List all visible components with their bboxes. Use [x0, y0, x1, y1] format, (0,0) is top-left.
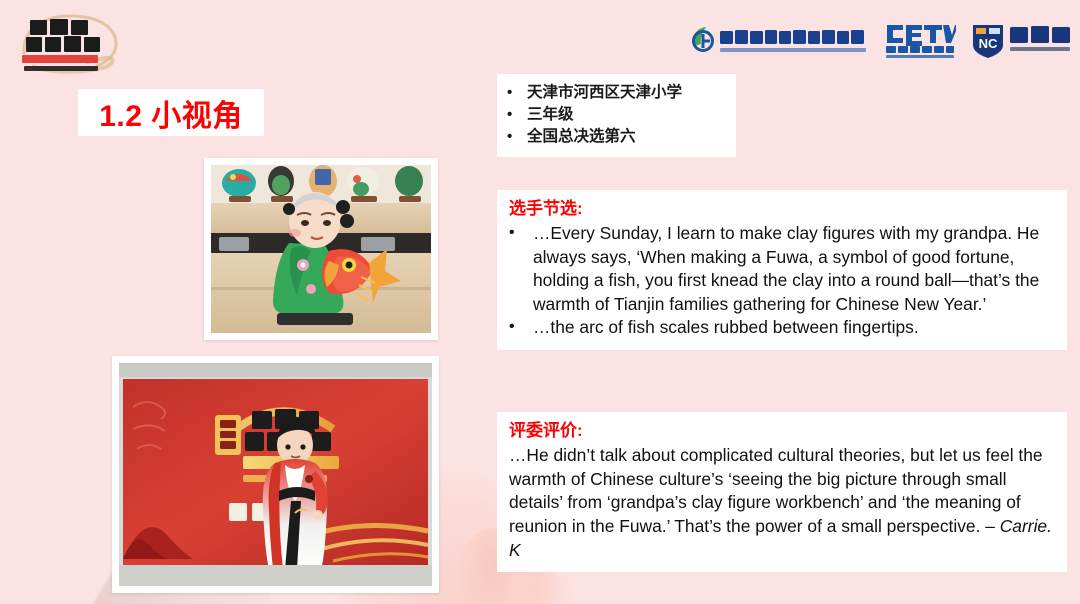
contestant-on-stage-image — [119, 363, 432, 586]
page-title: 1.2 小视角 — [78, 89, 264, 136]
bullet-icon: • — [507, 104, 527, 125]
list-item: • …Every Sunday, I learn to make clay fi… — [509, 222, 1055, 316]
student-school: 天津市河西区天津小学 — [527, 82, 682, 104]
clay-fuwa-figure-photo — [204, 158, 438, 340]
comment-body: …He didn’t talk about complicated cultur… — [509, 444, 1055, 562]
excerpt-heading: 选手节选: — [509, 198, 1055, 220]
list-item: • 三年级 — [507, 104, 726, 126]
contestant-excerpt-box: 选手节选: • …Every Sunday, I learn to make c… — [497, 190, 1067, 350]
page-title-text: 1.2 小视角 — [99, 91, 243, 135]
contestant-on-stage-photo — [112, 356, 439, 593]
student-info-list: • 天津市河西区天津小学 • 三年级 • 全国总决选第六 — [507, 82, 726, 148]
comment-heading: 评委评价: — [509, 420, 1055, 442]
excerpt-paragraph-2: …the arc of fish scales rubbed between f… — [533, 316, 1055, 339]
stories-of-china-logo — [16, 10, 124, 76]
slide-canvas: NC 1.2 小视角 • 天津市河西区天津小学 • 三年级 — [0, 0, 1080, 604]
china-institute-logo — [688, 22, 870, 58]
clay-fuwa-figure-image — [211, 165, 431, 333]
excerpt-paragraph-1: …Every Sunday, I learn to make clay figu… — [533, 222, 1055, 316]
student-grade: 三年级 — [527, 104, 574, 126]
student-ranking: 全国总决选第六 — [527, 126, 636, 148]
bullet-icon: • — [509, 222, 533, 244]
list-item: • 全国总决选第六 — [507, 126, 726, 148]
list-item: • …the arc of fish scales rubbed between… — [509, 316, 1055, 339]
bullet-icon: • — [509, 316, 533, 338]
judge-comment-box: 评委评价: …He didn’t talk about complicated … — [497, 412, 1067, 572]
cetv-logo — [884, 21, 956, 59]
bullet-icon: • — [507, 82, 527, 103]
new-channel-logo: NC — [970, 21, 1074, 59]
bullet-icon: • — [507, 126, 527, 147]
comment-body-text: …He didn’t talk about complicated cultur… — [509, 445, 1043, 536]
partner-logos: NC — [688, 21, 1074, 59]
student-info-box: • 天津市河西区天津小学 • 三年级 • 全国总决选第六 — [497, 74, 736, 157]
svg-text:NC: NC — [979, 36, 998, 51]
list-item: • 天津市河西区天津小学 — [507, 82, 726, 104]
